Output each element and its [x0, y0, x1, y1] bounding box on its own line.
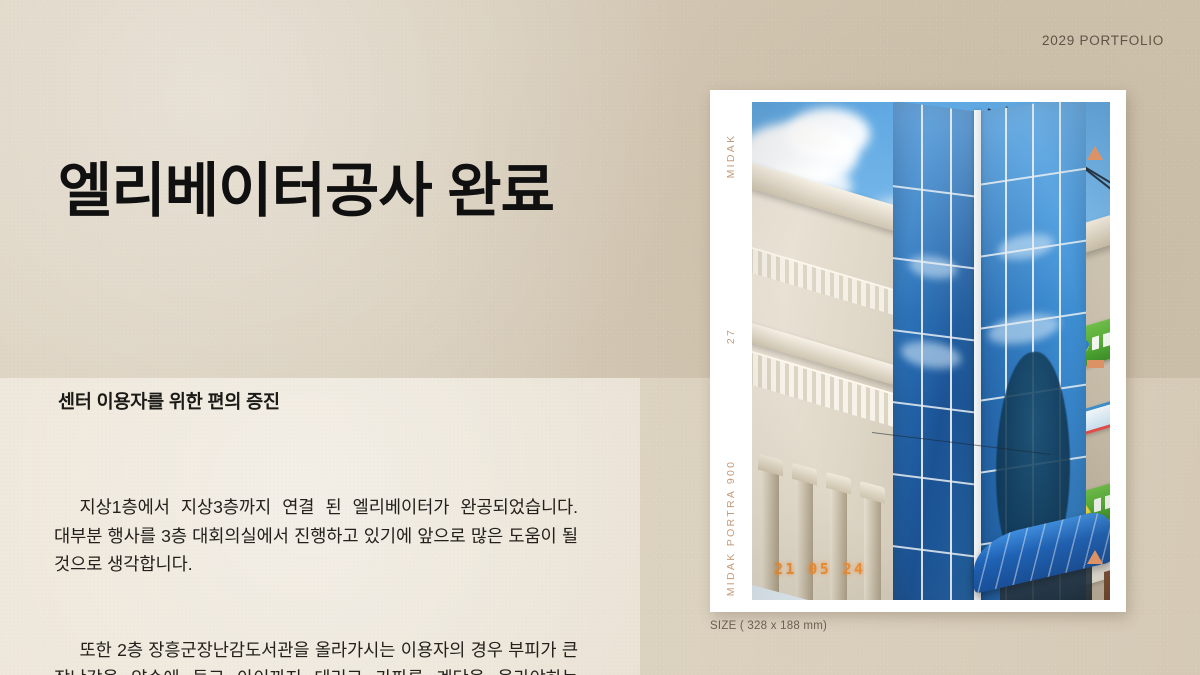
body-copy: 지상1층에서 지상3층까지 연결 된 엘리베이터가 완공되었습니다. 대부분 행…	[54, 436, 578, 675]
elevator-glass-left-face	[893, 102, 979, 600]
film-stock-label: MIDAK PORTRA 900	[725, 460, 737, 597]
cloud	[786, 108, 870, 160]
photo-size-caption: SIZE ( 328 x 188 mm)	[710, 620, 827, 632]
tower-corner-mullion	[974, 110, 981, 600]
photo-date-stamp: 21 05 24	[774, 560, 865, 578]
photo-card: MIDAK 27 MIDAK PORTRA 900	[710, 90, 1126, 612]
film-brand-label: MIDAK	[725, 134, 737, 179]
page-title: 엘리베이터공사 완료	[58, 158, 554, 224]
film-rail: MIDAK 27 MIDAK PORTRA 900	[710, 102, 752, 600]
slide-canvas: 2029 PORTFOLIO 엘리베이터공사 완료 센터 이용자를 위한 편의 …	[0, 0, 1200, 675]
section-subtitle: 센터 이용자를 위한 편의 증진	[58, 388, 280, 414]
film-frame-number: 27	[725, 328, 737, 344]
photo-scene: 21 05 24	[752, 102, 1110, 600]
body-paragraph-2: 또한 2층 장흥군장난감도서관을 올라가시는 이용자의 경우 부피가 큰 장난감…	[54, 636, 578, 675]
body-paragraph-1: 지상1층에서 지상3층까지 연결 된 엘리베이터가 완공되었습니다. 대부분 행…	[54, 493, 578, 579]
photograph: 21 05 24	[752, 102, 1110, 600]
portfolio-year-label: 2029 PORTFOLIO	[1042, 33, 1164, 48]
